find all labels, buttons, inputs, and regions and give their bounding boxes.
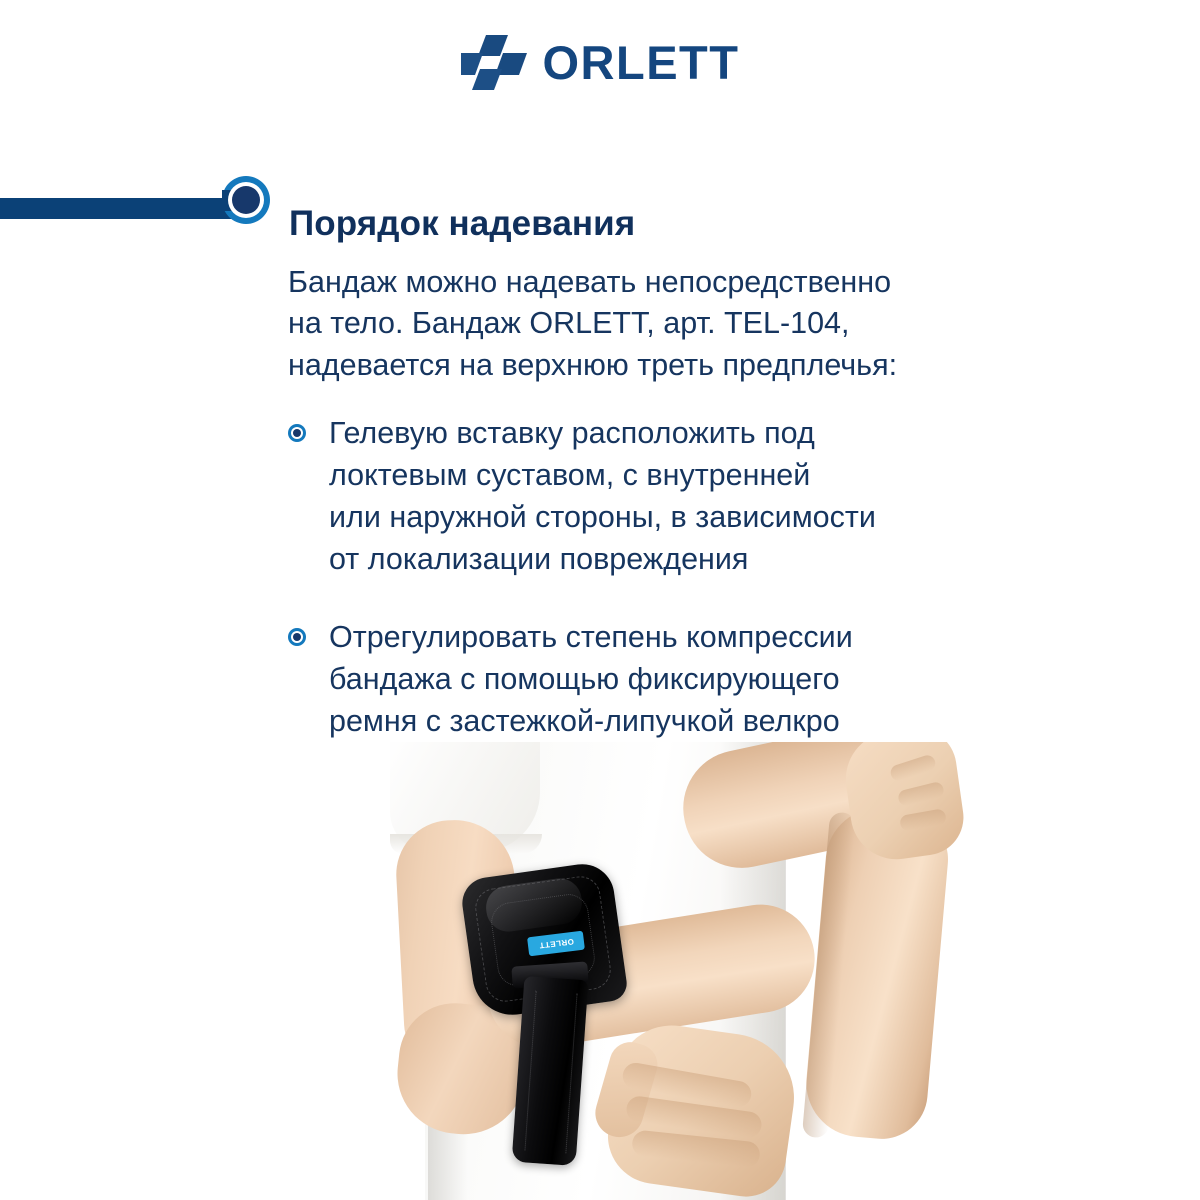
list-item-text: Отрегулировать степень компрессии бандаж…: [329, 616, 853, 742]
list-item: Гелевую вставку расположить под локтевым…: [288, 412, 1048, 580]
brace-label-text: ORLETT: [538, 937, 574, 950]
instruction-list: Гелевую вставку расположить под локтевым…: [288, 412, 1048, 779]
orlett-cross-mark-icon: [461, 34, 529, 90]
list-item-text: Гелевую вставку расположить под локтевым…: [329, 412, 876, 580]
list-item-line: ремня с застежкой-липучкой велкро: [329, 700, 853, 742]
list-item: Отрегулировать степень компрессии бандаж…: [288, 616, 1048, 742]
ring-dot-icon: [288, 424, 306, 442]
intro-line: Бандаж можно надевать непосредственно: [288, 262, 1018, 303]
brand-logo: ORLETT: [0, 34, 1200, 90]
marker-core: [232, 186, 260, 214]
circle-marker-icon: [222, 176, 270, 224]
heading-rule: [0, 198, 245, 219]
ring-dot-icon: [288, 628, 306, 646]
intro-line: на тело. Бандаж ORLETT, арт. TEL-104,: [288, 303, 1018, 344]
list-item-line: или наружной стороны, в зависимости: [329, 496, 876, 538]
intro-line: надевается на верхнюю треть предплечья:: [288, 345, 1018, 386]
page-title: Порядок надевания: [289, 205, 635, 244]
list-item-line: бандажа с помощью фиксирующего: [329, 658, 853, 700]
intro-paragraph: Бандаж можно надевать непосредственно на…: [288, 262, 1018, 386]
list-item-line: локтевым суставом, с внутренней: [329, 454, 876, 496]
list-item-line: Отрегулировать степень компрессии: [329, 616, 853, 658]
photo-canvas: ORLETT: [250, 742, 1010, 1200]
list-item-line: Гелевую вставку расположить под: [329, 412, 876, 454]
instruction-page: ORLETT Порядок надевания Бандаж можно на…: [0, 0, 1200, 1200]
brand-wordmark: ORLETT: [543, 39, 740, 86]
product-photo: ORLETT: [250, 742, 1010, 1200]
list-item-line: от локализации повреждения: [329, 538, 876, 580]
